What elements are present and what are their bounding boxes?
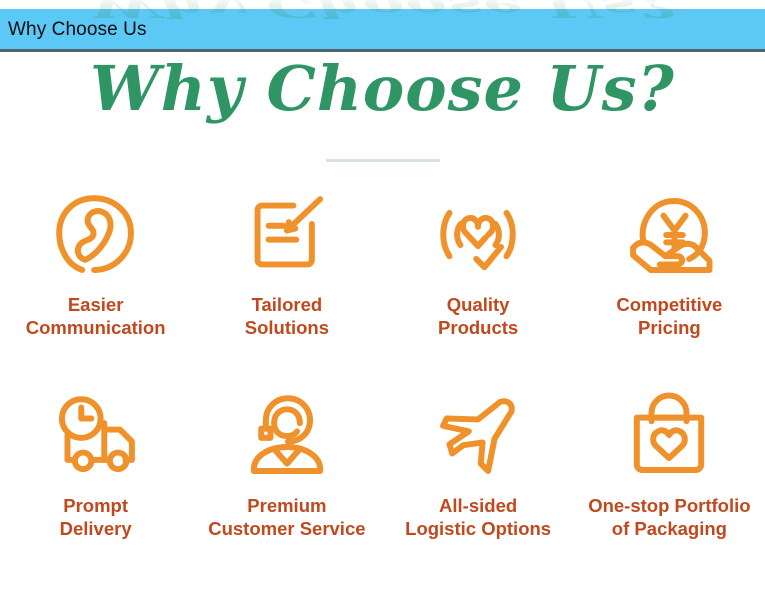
- feature-item-quality-products[interactable]: Quality Products: [383, 187, 574, 340]
- window-titlebar: Why Choose Us: [0, 9, 765, 52]
- headset-agent-icon: [239, 388, 335, 484]
- feature-label: All-sided Logistic Options: [405, 495, 551, 541]
- feature-label: Competitive Pricing: [616, 294, 722, 340]
- airplane-icon: [430, 388, 526, 484]
- feature-item-all-sided-logistic-options[interactable]: All-sided Logistic Options: [383, 388, 574, 541]
- heart-signal-check-icon: [430, 187, 526, 283]
- hero-divider: [326, 159, 440, 162]
- feature-label: One-stop Portfolio of Packaging: [588, 495, 750, 541]
- feature-label: Prompt Delivery: [60, 495, 132, 541]
- feature-label: Quality Products: [438, 294, 518, 340]
- feature-item-one-stop-portfolio-of-packaging[interactable]: One-stop Portfolio of Packaging: [574, 388, 765, 541]
- delivery-truck-clock-icon: [48, 388, 144, 484]
- feature-item-tailored-solutions[interactable]: Tailored Solutions: [191, 187, 382, 340]
- feature-grid: Easier Communication Tailored Solutions: [0, 187, 765, 541]
- page-content: Why Choose Us? Why Choose Us? Easier Com…: [0, 55, 765, 599]
- page-title: Why Choose Us?: [0, 58, 765, 120]
- shopping-bag-heart-icon: [621, 388, 717, 484]
- window-title: Why Choose Us: [0, 20, 147, 39]
- hand-holding-yen-coin-icon: [621, 187, 717, 283]
- feature-item-competitive-pricing[interactable]: Competitive Pricing: [574, 187, 765, 340]
- feature-label: Premium Customer Service: [208, 495, 365, 541]
- feature-label: Tailored Solutions: [245, 294, 329, 340]
- ear-listening-icon: [48, 187, 144, 283]
- document-pencil-icon: [239, 187, 335, 283]
- feature-item-premium-customer-service[interactable]: Premium Customer Service: [191, 388, 382, 541]
- feature-item-prompt-delivery[interactable]: Prompt Delivery: [0, 388, 191, 541]
- hero-section: Why Choose Us? Why Choose Us?: [0, 55, 765, 165]
- feature-item-easier-communication[interactable]: Easier Communication: [0, 187, 191, 340]
- feature-label: Easier Communication: [26, 294, 166, 340]
